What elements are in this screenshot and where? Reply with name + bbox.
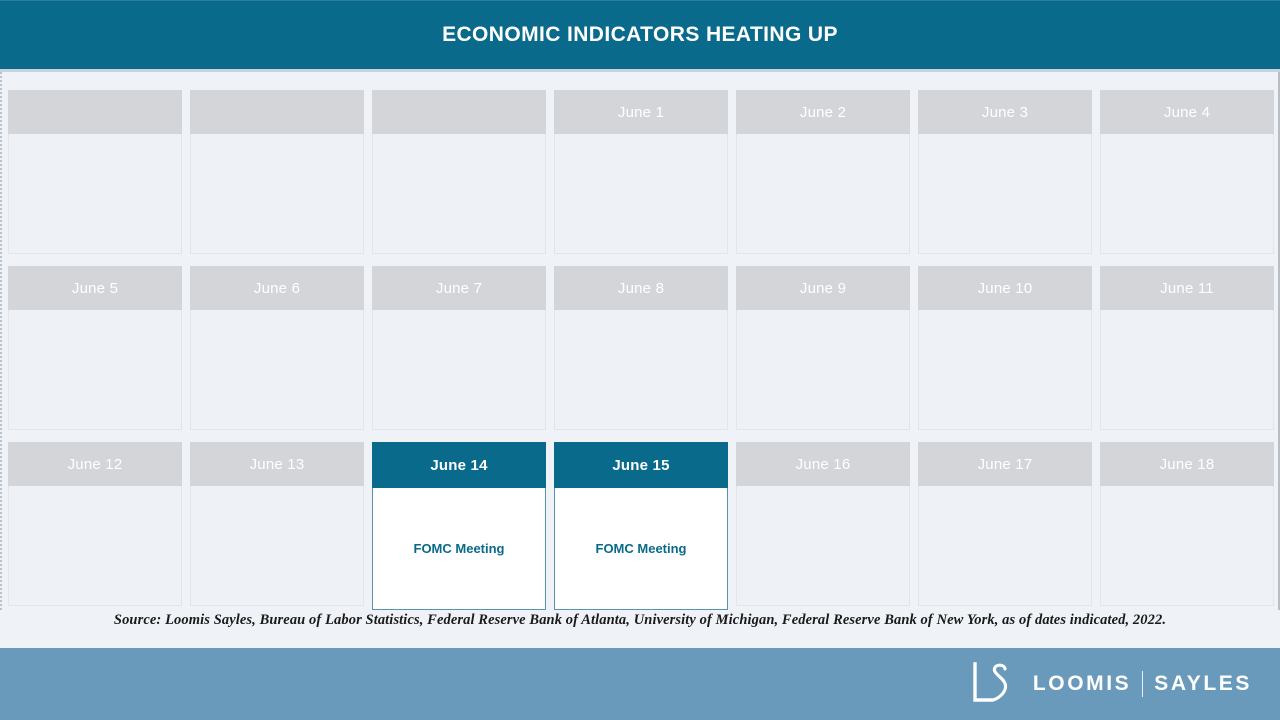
calendar-cell-body [736, 134, 910, 254]
calendar-date-label: June 3 [982, 104, 1028, 121]
calendar-cell-body [918, 310, 1092, 430]
calendar-cell-empty[interactable] [8, 90, 182, 254]
calendar-cell-header: June 2 [736, 90, 910, 134]
calendar-cell-header: June 15 [554, 442, 728, 488]
calendar-cell-june-11[interactable]: June 11 [1100, 266, 1274, 430]
calendar-cell-header [8, 90, 182, 134]
calendar-cell-empty[interactable] [372, 90, 546, 254]
calendar-cell-june-7[interactable]: June 7 [372, 266, 546, 430]
calendar-cell-body: FOMC Meeting [372, 488, 546, 610]
calendar-cell-body [372, 134, 546, 254]
calendar-cell-header: June 13 [190, 442, 364, 486]
ls-monogram-icon [965, 660, 1019, 708]
calendar-date-label: June 9 [800, 280, 846, 297]
footer-bar: LOOMIS SAYLES [0, 648, 1280, 720]
calendar-cell-june-17[interactable]: June 17 [918, 442, 1092, 606]
calendar-cell-header: June 3 [918, 90, 1092, 134]
calendar-cell-body [8, 486, 182, 606]
calendar-cell-header: June 7 [372, 266, 546, 310]
calendar-date-label: June 17 [978, 456, 1033, 473]
calendar-event-label: FOMC Meeting [414, 541, 505, 556]
calendar-cell-header: June 6 [190, 266, 364, 310]
calendar-date-label: June 11 [1160, 280, 1214, 297]
calendar-cell-body [1100, 134, 1274, 254]
calendar-cell-body [190, 486, 364, 606]
calendar-cell-june-13[interactable]: June 13 [190, 442, 364, 606]
calendar-cell-june-16[interactable]: June 16 [736, 442, 910, 606]
calendar-date-label: June 7 [436, 280, 482, 297]
calendar-grid: June 1June 2June 3June 4 June 5June 6Jun… [0, 72, 1280, 610]
calendar-cell-header: June 17 [918, 442, 1092, 486]
calendar-cell-body [918, 486, 1092, 606]
calendar-cell-body [554, 310, 728, 430]
logo-divider [1142, 671, 1143, 697]
calendar-week-row: June 1June 2June 3June 4 [8, 90, 1274, 266]
calendar-date-label: June 14 [430, 457, 487, 474]
logo-wordmark: LOOMIS SAYLES [1033, 671, 1252, 697]
calendar-cell-header: June 10 [918, 266, 1092, 310]
calendar-cell-empty[interactable] [190, 90, 364, 254]
calendar-cell-june-6[interactable]: June 6 [190, 266, 364, 430]
calendar-date-label: June 1 [618, 104, 664, 121]
calendar-cell-header: June 12 [8, 442, 182, 486]
calendar-cell-june-9[interactable]: June 9 [736, 266, 910, 430]
calendar-cell-header: June 18 [1100, 442, 1274, 486]
calendar-cell-header: June 16 [736, 442, 910, 486]
calendar-cell-june-18[interactable]: June 18 [1100, 442, 1274, 606]
calendar-cell-june-2[interactable]: June 2 [736, 90, 910, 254]
calendar-cell-header: June 4 [1100, 90, 1274, 134]
logo-word-sayles: SAYLES [1154, 672, 1252, 696]
calendar-date-label: June 15 [612, 457, 669, 474]
slide-canvas: ECONOMIC INDICATORS HEATING UP June 1Jun… [0, 0, 1280, 720]
calendar-date-label: June 8 [618, 280, 664, 297]
loomis-sayles-logo: LOOMIS SAYLES [965, 660, 1252, 708]
calendar-cell-header: June 5 [8, 266, 182, 310]
calendar-cell-june-3[interactable]: June 3 [918, 90, 1092, 254]
calendar-cell-june-4[interactable]: June 4 [1100, 90, 1274, 254]
calendar-cell-body: FOMC Meeting [554, 488, 728, 610]
calendar-date-label: June 4 [1164, 104, 1210, 121]
calendar-cell-body [8, 310, 182, 430]
calendar-cell-header [190, 90, 364, 134]
calendar-cell-june-1[interactable]: June 1 [554, 90, 728, 254]
calendar-week-row: June 12June 13June 14FOMC MeetingJune 15… [8, 442, 1274, 618]
calendar-cell-body [372, 310, 546, 430]
calendar-cell-body [1100, 310, 1274, 430]
page-title: ECONOMIC INDICATORS HEATING UP [442, 23, 838, 47]
calendar-date-label: June 16 [796, 456, 851, 473]
calendar-date-label: June 13 [250, 456, 305, 473]
calendar-cell-header: June 8 [554, 266, 728, 310]
calendar-cell-body [736, 486, 910, 606]
calendar-cell-body [190, 310, 364, 430]
calendar-cell-body [1100, 486, 1274, 606]
calendar-date-label: June 2 [800, 104, 846, 121]
calendar-cell-header: June 1 [554, 90, 728, 134]
calendar-cell-body [190, 134, 364, 254]
calendar-cell-june-15[interactable]: June 15FOMC Meeting [554, 442, 728, 606]
calendar-cell-header: June 9 [736, 266, 910, 310]
calendar-cell-june-14[interactable]: June 14FOMC Meeting [372, 442, 546, 606]
calendar-date-label: June 18 [1160, 456, 1215, 473]
calendar-week-row: June 5June 6June 7June 8June 9June 10Jun… [8, 266, 1274, 442]
calendar-cell-header [372, 90, 546, 134]
calendar-cell-body [918, 134, 1092, 254]
calendar-cell-june-5[interactable]: June 5 [8, 266, 182, 430]
logo-word-loomis: LOOMIS [1033, 672, 1131, 696]
calendar-date-label: June 10 [978, 280, 1033, 297]
calendar-cell-body [554, 134, 728, 254]
calendar-event-label: FOMC Meeting [596, 541, 687, 556]
slide-title-bar: ECONOMIC INDICATORS HEATING UP [0, 0, 1280, 69]
calendar-cell-header: June 14 [372, 442, 546, 488]
calendar-cell-june-8[interactable]: June 8 [554, 266, 728, 430]
calendar-cell-june-12[interactable]: June 12 [8, 442, 182, 606]
calendar-cell-body [736, 310, 910, 430]
calendar-cell-body [8, 134, 182, 254]
calendar-cell-june-10[interactable]: June 10 [918, 266, 1092, 430]
calendar-date-label: June 5 [72, 280, 118, 297]
source-note: Source: Loomis Sayles, Bureau of Labor S… [0, 612, 1280, 629]
calendar-cell-header: June 11 [1100, 266, 1274, 310]
calendar-date-label: June 6 [254, 280, 300, 297]
calendar-date-label: June 12 [68, 456, 123, 473]
